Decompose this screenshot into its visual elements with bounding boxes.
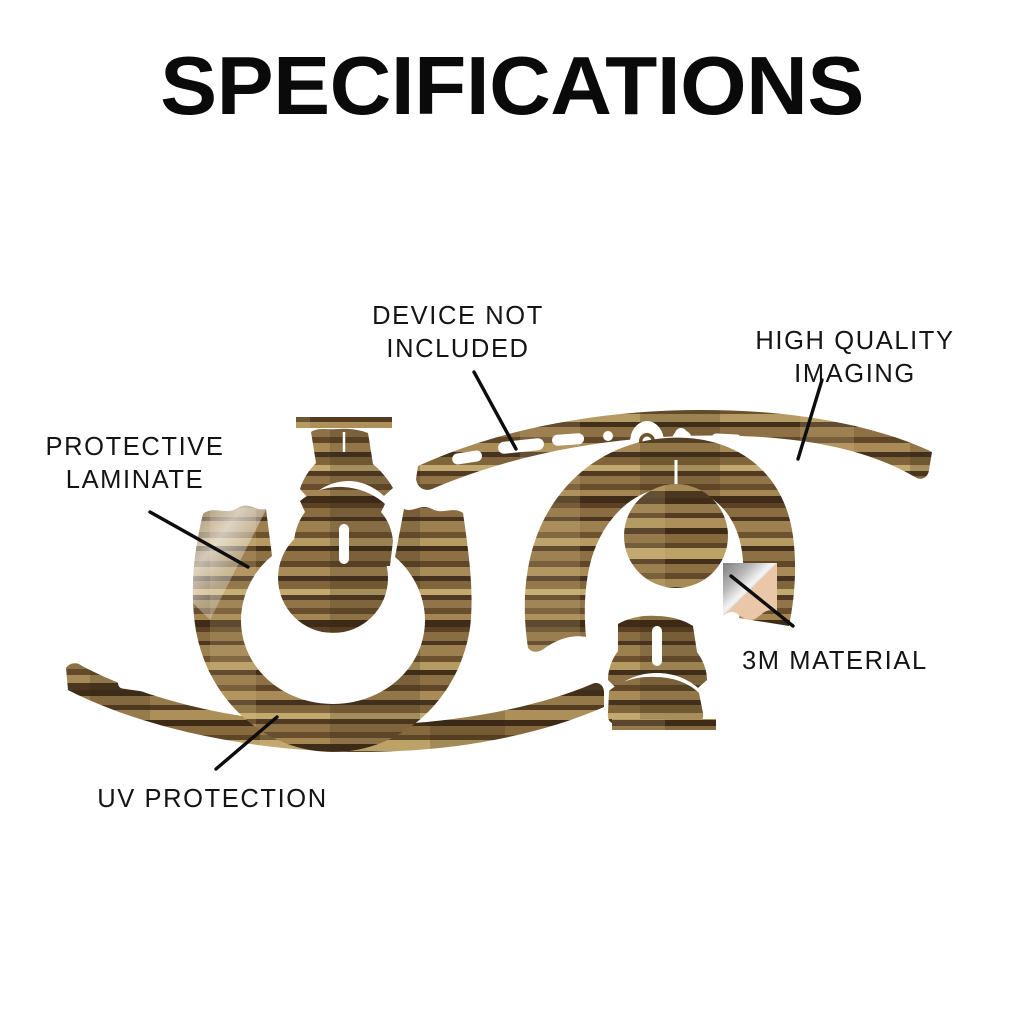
top-bracket-slot [339, 524, 349, 564]
callout-label-device-not-included: DEVICE NOT INCLUDED [338, 300, 578, 366]
leader-device-not-included [474, 372, 516, 449]
callout-label-uv-protection: UV PROTECTION [60, 783, 365, 816]
skin-piece-bottom-bracket [600, 610, 715, 735]
callout-label-high-quality-imaging: HIGH QUALITY IMAGING [728, 325, 982, 391]
callout-label-protective-laminate: PROTECTIVE LAMINATE [12, 431, 258, 497]
skin-parts-illustration [0, 0, 1024, 1024]
bottom-bracket-slot [652, 626, 662, 666]
callout-label-3m-material: 3M MATERIAL [742, 645, 994, 678]
infographic-canvas: SPECIFICATIONS [0, 0, 1024, 1024]
skin-piece-top-bracket [288, 424, 400, 574]
